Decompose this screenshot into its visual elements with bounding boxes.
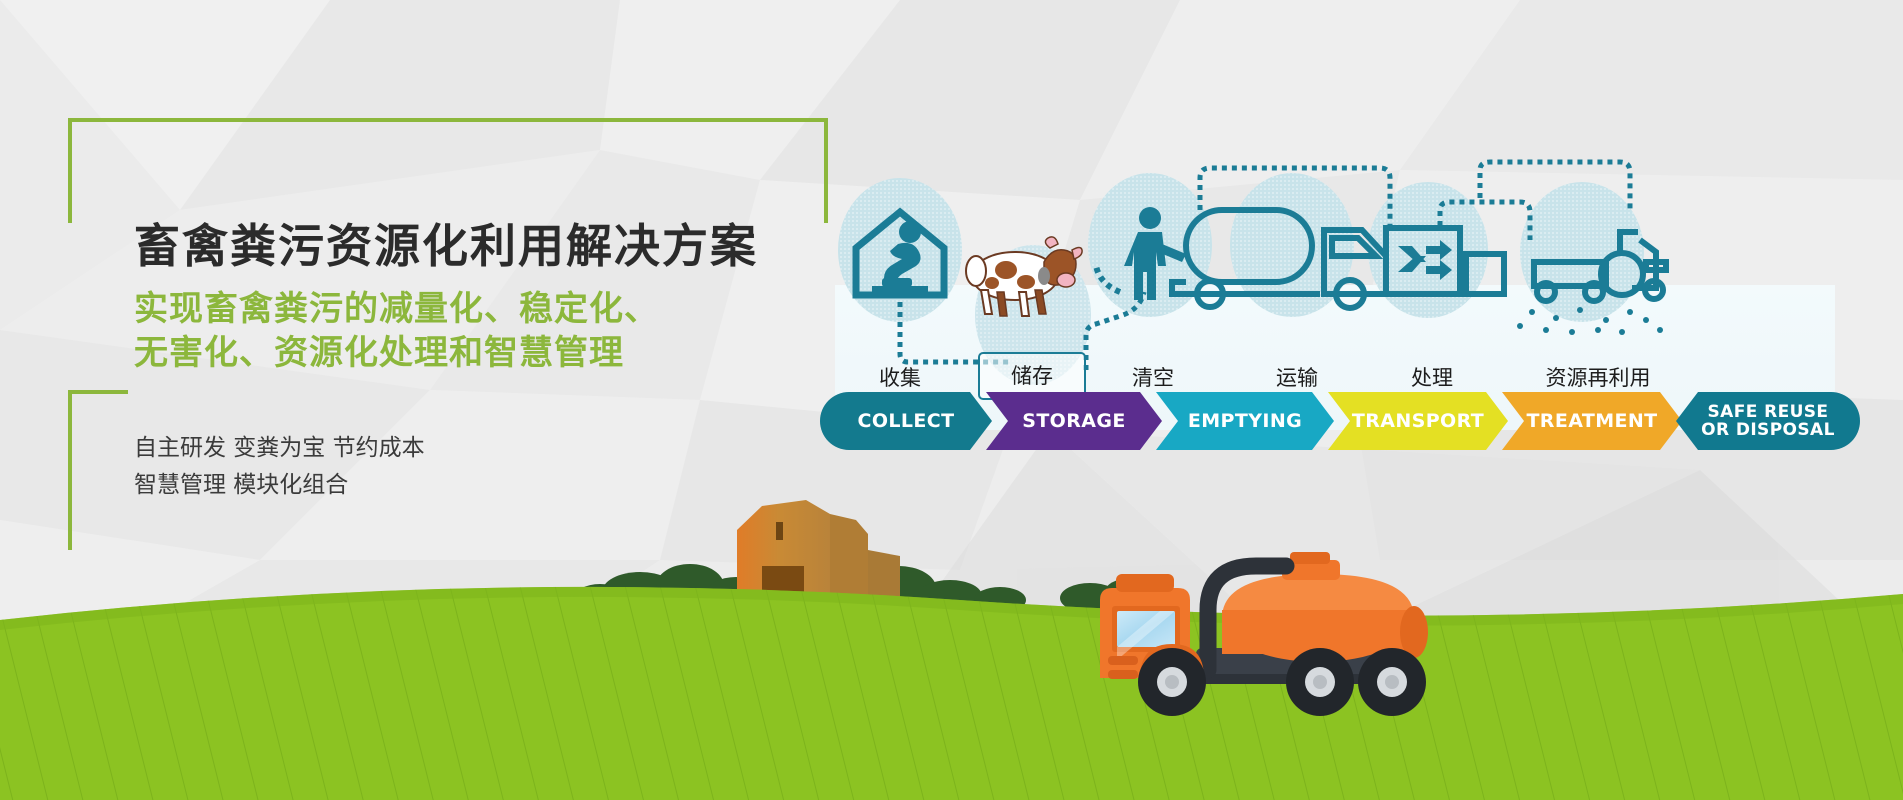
chevron-emptying[interactable]: EMPTYING — [1156, 392, 1334, 450]
chevron-treatment[interactable]: TREATMENT — [1502, 392, 1682, 450]
step-label-reuse: 资源再利用 — [1508, 362, 1688, 392]
subtitle-line-2: 无害化、资源化处理和智慧管理 — [134, 332, 659, 376]
step-label-collect: 收集 — [835, 362, 965, 392]
frame-bottom-line — [68, 390, 128, 394]
chevron-safe-reuse[interactable]: SAFE REUSE OR DISPOSAL — [1676, 392, 1860, 450]
feature-line-1: 自主研发 变粪为宝 节约成本 — [134, 430, 425, 467]
step-label-emptying: 清空 — [1088, 362, 1218, 392]
page-title: 畜禽粪污资源化利用解决方案 — [134, 210, 758, 276]
frame-left-top — [68, 118, 72, 223]
farm-landscape — [0, 470, 1903, 800]
landscape-illustration — [0, 470, 1903, 800]
process-chevron-bar: COLLECT STORAGE EMPTYING TRANSPORT TREAT… — [820, 392, 1860, 452]
subtitle-line-1: 实现畜禽粪污的减量化、稳定化、 — [134, 288, 659, 332]
step-label-treatment: 处理 — [1367, 362, 1497, 392]
chevron-storage[interactable]: STORAGE — [986, 392, 1162, 450]
step-label-transport: 运输 — [1232, 362, 1362, 392]
chevron-collect[interactable]: COLLECT — [820, 392, 992, 450]
banner-root: 畜禽粪污资源化利用解决方案 实现畜禽粪污的减量化、稳定化、 无害化、资源化处理和… — [0, 0, 1903, 800]
subtitle: 实现畜禽粪污的减量化、稳定化、 无害化、资源化处理和智慧管理 — [134, 288, 659, 375]
chevron-transport[interactable]: TRANSPORT — [1328, 392, 1508, 450]
frame-top-line — [68, 118, 828, 122]
